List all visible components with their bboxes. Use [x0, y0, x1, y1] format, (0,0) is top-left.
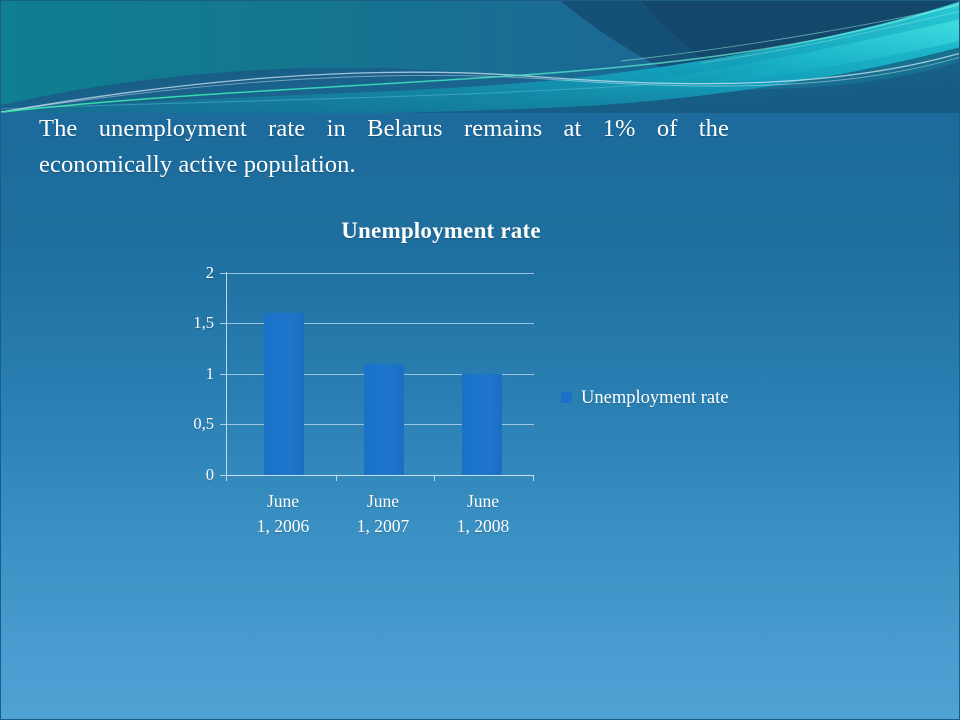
banner-swoosh-graphic	[1, 1, 960, 113]
gridline-2: 2	[226, 273, 534, 274]
chart-legend[interactable]: Unemployment rate	[561, 386, 776, 411]
x-axis-label-line2: 1, 2007	[331, 514, 435, 539]
chart-title: Unemployment rate	[241, 218, 641, 244]
bar-june-1-2006[interactable]	[264, 313, 304, 475]
x-axis-label-june-1-2007: June 1, 2007	[331, 489, 435, 539]
x-axis-label-line2: 1, 2008	[431, 514, 535, 539]
decorative-banner	[1, 1, 960, 113]
y-axis-label-1-5: 1,5	[193, 313, 214, 333]
y-axis-label-0: 0	[206, 465, 214, 485]
chart-plot-area: 2 1,5 1 0,5 0	[226, 273, 534, 475]
x-tick-1	[336, 475, 337, 481]
y-tick-1-5	[220, 323, 226, 324]
x-axis-label-line1: June	[431, 489, 535, 514]
y-tick-1	[220, 374, 226, 375]
x-axis-label-line2: 1, 2006	[231, 514, 335, 539]
x-tick-2	[434, 475, 435, 481]
y-axis-label-0-5: 0,5	[193, 414, 214, 434]
y-axis-label-2: 2	[206, 263, 214, 283]
legend-label-unemployment-rate: Unemployment rate	[581, 386, 728, 411]
slide: The unemployment rate in Belarus remains…	[0, 0, 960, 720]
slide-body-text: The unemployment rate in Belarus remains…	[39, 111, 729, 183]
legend-color-swatch	[561, 392, 572, 403]
x-axis-label-june-1-2006: June 1, 2006	[231, 489, 335, 539]
x-axis-label-june-1-2008: June 1, 2008	[431, 489, 535, 539]
bar-june-1-2008[interactable]	[462, 374, 502, 475]
gridline-0: 0	[226, 475, 534, 476]
x-tick-0	[226, 475, 227, 481]
unemployment-rate-chart: Unemployment rate 2 1,5 1 0,5	[161, 206, 801, 566]
y-tick-2	[220, 273, 226, 274]
x-tick-3	[533, 475, 534, 481]
y-axis-label-1: 1	[206, 364, 214, 384]
bar-june-1-2007[interactable]	[364, 364, 404, 475]
x-axis-label-line1: June	[331, 489, 435, 514]
x-axis-label-line1: June	[231, 489, 335, 514]
y-tick-0-5	[220, 424, 226, 425]
